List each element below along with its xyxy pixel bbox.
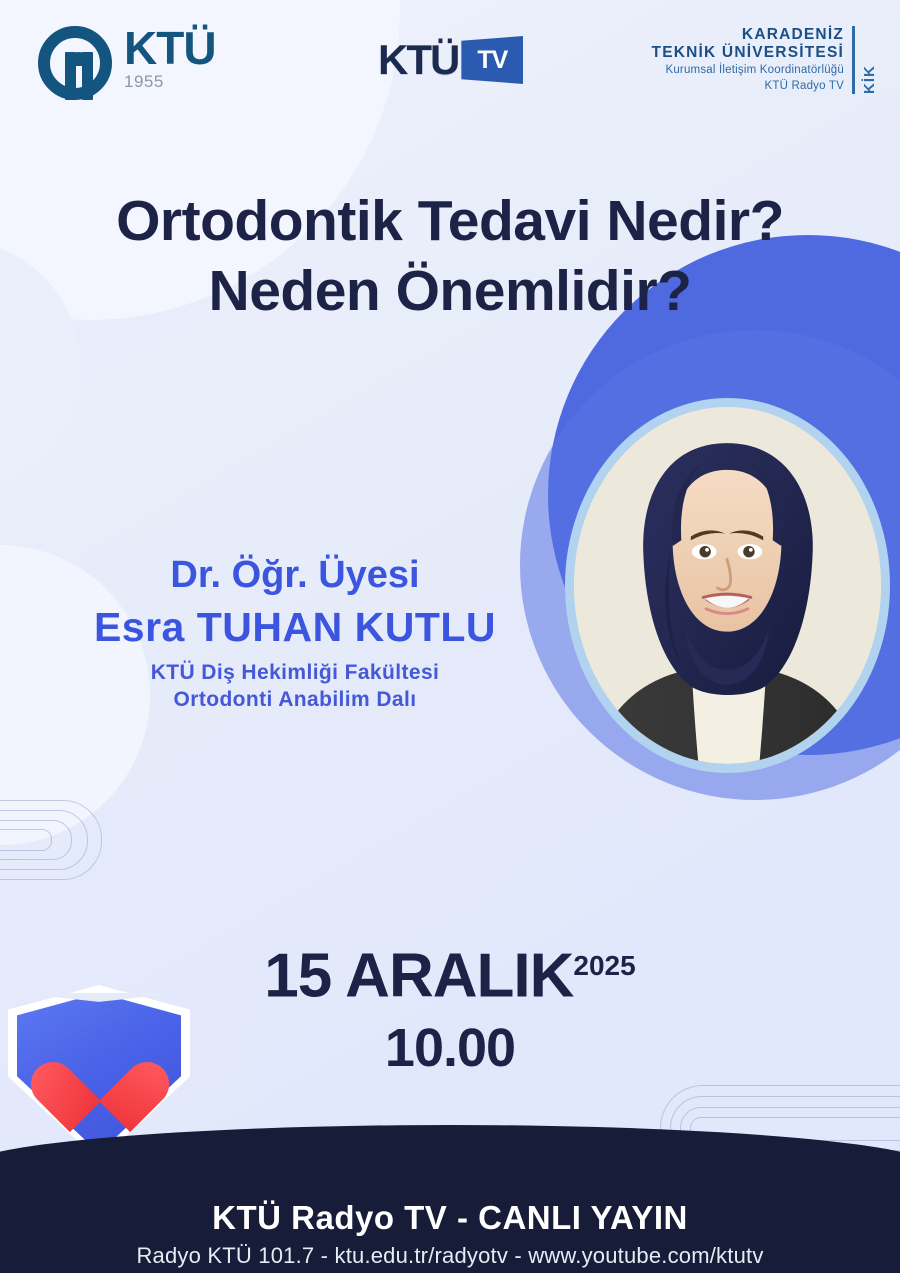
event-poster: KTÜ 1955 KTÜ TV KARADENİZ TEKNİK ÜNİVERS… [0,0,900,1273]
ktu-tv-wordmark: KTÜ [378,39,458,81]
event-date: 15 ARALIK2025 [264,930,635,1013]
speaker-faculty: KTÜ Diş Hekimliği Fakültesi [35,659,555,686]
ktu-tv-logo: KTÜ TV [378,36,523,84]
coordination-office-line: Kurumsal İletişim Koordinatörlüğü [652,62,844,78]
kik-divider-bar [852,26,855,94]
ktu-wordmark: KTÜ [124,26,216,70]
tv-screen-icon: TV [461,36,523,84]
ktu-emblem-icon [38,26,118,100]
kik-vertical-abbreviation: KİK [861,26,878,94]
kik-identity-block: KARADENİZ TEKNİK ÜNİVERSİTESİ Kurumsal İ… [652,26,878,94]
poster-header: KTÜ 1955 KTÜ TV KARADENİZ TEKNİK ÜNİVERS… [0,0,900,120]
footer-details: Radyo KTÜ 101.7 - ktu.edu.tr/radyotv - w… [0,1239,900,1273]
speaker-department: Ortodonti Anabilim Dalı [35,686,555,713]
poster-footer: KTÜ Radyo TV - CANLI YAYIN Radyo KTÜ 101… [0,1125,900,1273]
speaker-academic-title: Dr. Öğr. Üyesi [35,550,555,600]
title-line-1: Ortodontik Tedavi Nedir? [116,189,784,253]
heart-icon [57,1033,141,1109]
portrait-illustration [574,407,881,764]
event-date-day-month: 15 ARALIK [264,942,573,1011]
ktu-university-logo: KTÜ 1955 [38,26,216,100]
speaker-photo [565,398,890,773]
speaker-info: Dr. Öğr. Üyesi Esra TUHAN KUTLU KTÜ Diş … [35,550,555,713]
radio-tv-line: KTÜ Radyo TV [652,78,844,94]
footer-headline: KTÜ Radyo TV - CANLI YAYIN [0,1197,900,1239]
poster-title: Ortodontik Tedavi Nedir? Neden Önemlidir… [0,186,900,326]
university-name-line1: KARADENİZ [652,26,844,44]
tv-screen-label: TV [477,46,507,75]
title-line-2: Neden Önemlidir? [0,256,900,326]
university-name-line2: TEKNİK ÜNİVERSİTESİ [652,44,844,62]
event-year: 2025 [573,950,635,981]
ktu-founding-year: 1955 [124,72,216,92]
speaker-name: Esra TUHAN KUTLU [35,600,555,654]
